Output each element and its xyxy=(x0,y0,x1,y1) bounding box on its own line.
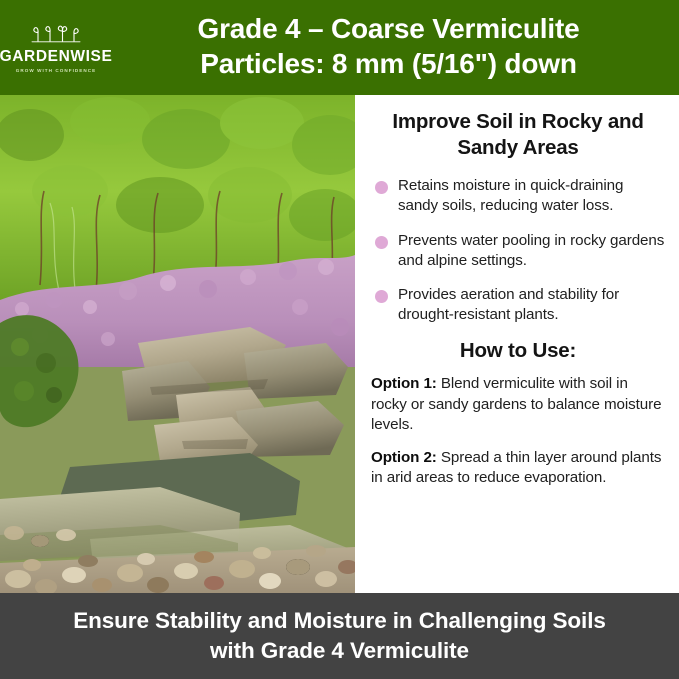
list-item: Retains moisture in quick-draining sandy… xyxy=(369,176,667,216)
brand-logo: GARDENWISE GROW WITH CONFIDENCE xyxy=(0,22,112,73)
bullet-dot-icon xyxy=(375,181,388,194)
list-item: Prevents water pooling in rocky gardens … xyxy=(369,231,667,271)
usage-option-2: Option 2: Spread a thin layer around pla… xyxy=(369,448,667,488)
option-1-label: Option 1: xyxy=(371,375,437,392)
brand-wordmark: GARDENWISE xyxy=(0,49,112,65)
benefit-list: Retains moisture in quick-draining sandy… xyxy=(369,176,667,325)
bullet-dot-icon xyxy=(375,290,388,303)
header-title-line-1: Grade 4 – Coarse Vermiculite xyxy=(112,12,665,47)
how-to-use-heading: How to Use: xyxy=(369,339,667,363)
footer-banner: Ensure Stability and Moisture in Challen… xyxy=(0,593,679,679)
list-item: Provides aeration and stability for drou… xyxy=(369,285,667,325)
header-banner: GARDENWISE GROW WITH CONFIDENCE Grade 4 … xyxy=(0,0,679,95)
product-infographic: GARDENWISE GROW WITH CONFIDENCE Grade 4 … xyxy=(0,0,679,679)
usage-option-1: Option 1: Blend vermiculite with soil in… xyxy=(369,374,667,435)
benefits-panel: Improve Soil in Rocky and Sandy Areas Re… xyxy=(355,95,679,593)
footer-line-1: Ensure Stability and Moisture in Challen… xyxy=(73,606,606,636)
benefit-text: Retains moisture in quick-draining sandy… xyxy=(398,176,667,216)
panel-heading: Improve Soil in Rocky and Sandy Areas xyxy=(369,109,667,161)
brand-tagline: GROW WITH CONFIDENCE xyxy=(16,68,96,73)
option-2-label: Option 2: xyxy=(371,449,437,466)
header-title-group: Grade 4 – Coarse Vermiculite Particles: … xyxy=(112,12,679,83)
benefit-text: Provides aeration and stability for drou… xyxy=(398,285,667,325)
bullet-dot-icon xyxy=(375,236,388,249)
panel-heading-line-1: Improve Soil in Rocky xyxy=(392,110,602,133)
footer-line-2: with Grade 4 Vermiculite xyxy=(210,636,469,666)
rock-garden-photo xyxy=(0,95,355,593)
header-title-line-2: Particles: 8 mm (5/16") down xyxy=(112,47,665,82)
benefit-text: Prevents water pooling in rocky gardens … xyxy=(398,231,667,271)
three-sprouts-icon xyxy=(30,24,82,48)
